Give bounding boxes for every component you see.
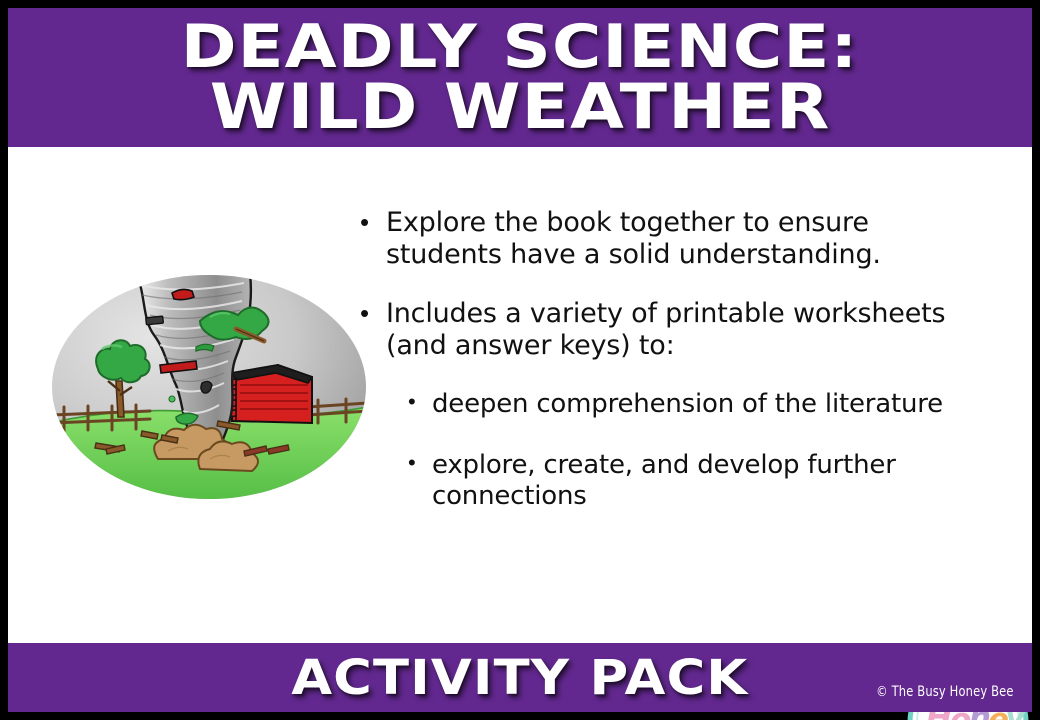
bullet-list: • Explore the book together to ensure st… xyxy=(360,207,980,542)
list-item: • Explore the book together to ensure st… xyxy=(360,207,980,272)
copyright-text: © The Busy Honey Bee xyxy=(877,684,1014,700)
tornado-illustration xyxy=(50,273,368,501)
list-item-text: explore, create, and develop further con… xyxy=(432,450,980,512)
slide-body: • Explore the book together to ensure st… xyxy=(8,147,1032,643)
list-item-text: Explore the book together to ensure stud… xyxy=(386,207,980,272)
bullet-dot-icon: • xyxy=(360,207,386,238)
list-item: • Includes a variety of printable worksh… xyxy=(360,298,980,363)
bullet-dot-icon: • xyxy=(360,298,386,329)
footer-banner: ACTIVITY PACK © The Busy Honey Bee xyxy=(8,643,1032,712)
list-item: • deepen comprehension of the literature xyxy=(408,389,980,420)
footer-label: ACTIVITY PACK xyxy=(291,654,748,702)
list-item-text: deepen comprehension of the literature xyxy=(432,389,980,420)
title-banner: DEADLY SCIENCE: WILD WEATHER xyxy=(8,8,1032,147)
list-item-text: Includes a variety of printable workshee… xyxy=(386,298,980,363)
slide-page: DEADLY SCIENCE: WILD WEATHER xyxy=(0,0,1040,720)
page-title-line-1: DEADLY SCIENCE: xyxy=(181,19,859,75)
page-title-line-2: WILD WEATHER xyxy=(210,78,831,136)
list-item: • explore, create, and develop further c… xyxy=(408,450,980,512)
bullet-dot-icon: • xyxy=(408,450,432,476)
bullet-dot-icon: • xyxy=(408,389,432,415)
